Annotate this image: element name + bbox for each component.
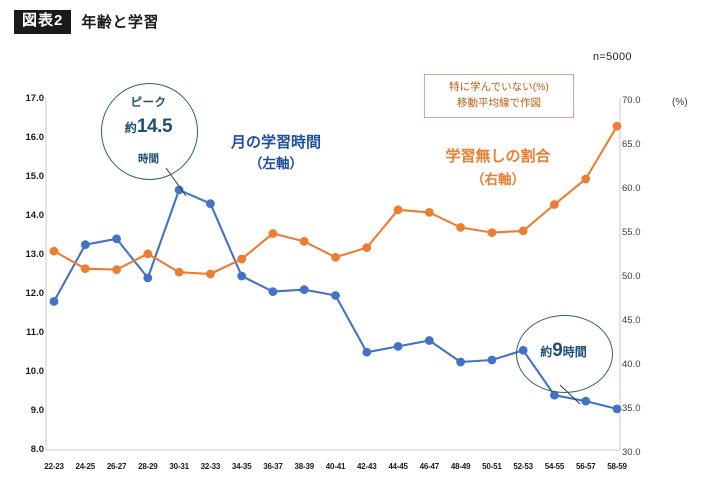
blue-series-label-sub: （左軸） (206, 154, 346, 175)
data-point-40-41 (331, 253, 340, 262)
data-point-42-43 (362, 243, 371, 252)
y-tick-right-35: 35.0 (622, 403, 656, 414)
data-point-26-27 (112, 234, 121, 243)
orange-series-label-sub: （右軸） (418, 169, 578, 191)
y-tick-left-14: 14.0 (10, 210, 44, 221)
data-point-30-31 (175, 268, 184, 277)
data-point-38-39 (300, 237, 309, 246)
data-point-46-47 (425, 208, 434, 217)
data-point-22-23 (50, 297, 59, 306)
peak-callout-value: 約14.5 (101, 116, 196, 138)
data-point-40-41 (331, 291, 340, 300)
y-tick-right-65: 65.0 (622, 139, 656, 150)
y-tick-left-10: 10.0 (10, 366, 44, 377)
data-point-50-51 (488, 228, 497, 237)
data-point-58-59 (613, 122, 622, 131)
blue-series-label-main: 月の学習時間 (206, 131, 346, 154)
data-point-48-49 (456, 358, 465, 367)
y-tick-right-45: 45.0 (622, 315, 656, 326)
y-tick-left-15: 15.0 (10, 171, 44, 182)
data-point-44-45 (394, 342, 403, 351)
orange-note-box: 特に学んでいない(%) 移動平均線で作図 (424, 74, 574, 118)
data-point-56-57 (581, 175, 590, 184)
data-point-48-49 (456, 223, 465, 232)
data-point-32-33 (206, 199, 215, 208)
data-point-36-37 (269, 287, 278, 296)
data-point-24-25 (81, 264, 90, 273)
data-point-34-35 (237, 255, 246, 264)
data-point-34-35 (237, 272, 246, 281)
x-tick-58-59: 58-59 (595, 462, 639, 471)
orange-note-line1: 特に学んでいない(%) (449, 80, 549, 96)
data-point-38-39 (300, 285, 309, 294)
peak-callout-top-label: ピーク (101, 94, 196, 110)
y-tick-left-9: 9.0 (10, 405, 44, 416)
nine-hours-callout-text: 約9時間 (516, 340, 611, 362)
nine-value-prefix: 約 (540, 345, 552, 359)
peak-value-number: 14.5 (137, 116, 172, 137)
orange-series-label-main: 学習無しの割合 (418, 145, 578, 169)
orange-note-line2: 移動平均線で作図 (457, 96, 541, 112)
data-point-46-47 (425, 336, 434, 345)
data-point-58-59 (613, 405, 622, 414)
data-point-54-55 (550, 200, 559, 209)
chart-plot-area (0, 0, 710, 487)
data-point-26-27 (112, 265, 121, 274)
data-point-28-29 (143, 274, 152, 283)
data-point-28-29 (143, 249, 152, 258)
data-point-56-57 (581, 397, 590, 406)
data-point-50-51 (488, 356, 497, 365)
y-tick-left-16: 16.0 (10, 132, 44, 143)
data-point-22-23 (50, 247, 59, 256)
y-tick-right-60: 60.0 (622, 183, 656, 194)
y-tick-right-70: 70.0 (622, 95, 656, 106)
y-tick-right-30: 30.0 (622, 447, 656, 458)
data-point-44-45 (394, 205, 403, 214)
y-tick-left-13: 13.0 (10, 249, 44, 260)
y-tick-right-55: 55.0 (622, 227, 656, 238)
data-point-52-53 (519, 227, 528, 236)
y-tick-right-40: 40.0 (622, 359, 656, 370)
data-point-36-37 (269, 229, 278, 238)
data-point-42-43 (362, 348, 371, 357)
blue-series-label: 月の学習時間 （左軸） (206, 131, 346, 175)
data-point-24-25 (81, 240, 90, 249)
y-tick-left-17: 17.0 (10, 93, 44, 104)
orange-series-label: 学習無しの割合 （右軸） (418, 145, 578, 191)
nine-value-number: 9 (552, 340, 563, 361)
y-tick-right-50: 50.0 (622, 271, 656, 282)
chart-page: 図表2 年齢と学習 n=5000 (%) 17.0 16.0 15.0 14.0… (0, 0, 710, 487)
peak-callout-unit: 時間 (101, 151, 196, 166)
y-tick-left-11: 11.0 (10, 327, 44, 338)
peak-value-prefix: 約 (125, 121, 137, 135)
y-tick-left-12: 12.0 (10, 288, 44, 299)
y-tick-left-8: 8.0 (10, 444, 44, 455)
data-point-32-33 (206, 270, 215, 279)
nine-value-unit: 時間 (563, 345, 587, 359)
